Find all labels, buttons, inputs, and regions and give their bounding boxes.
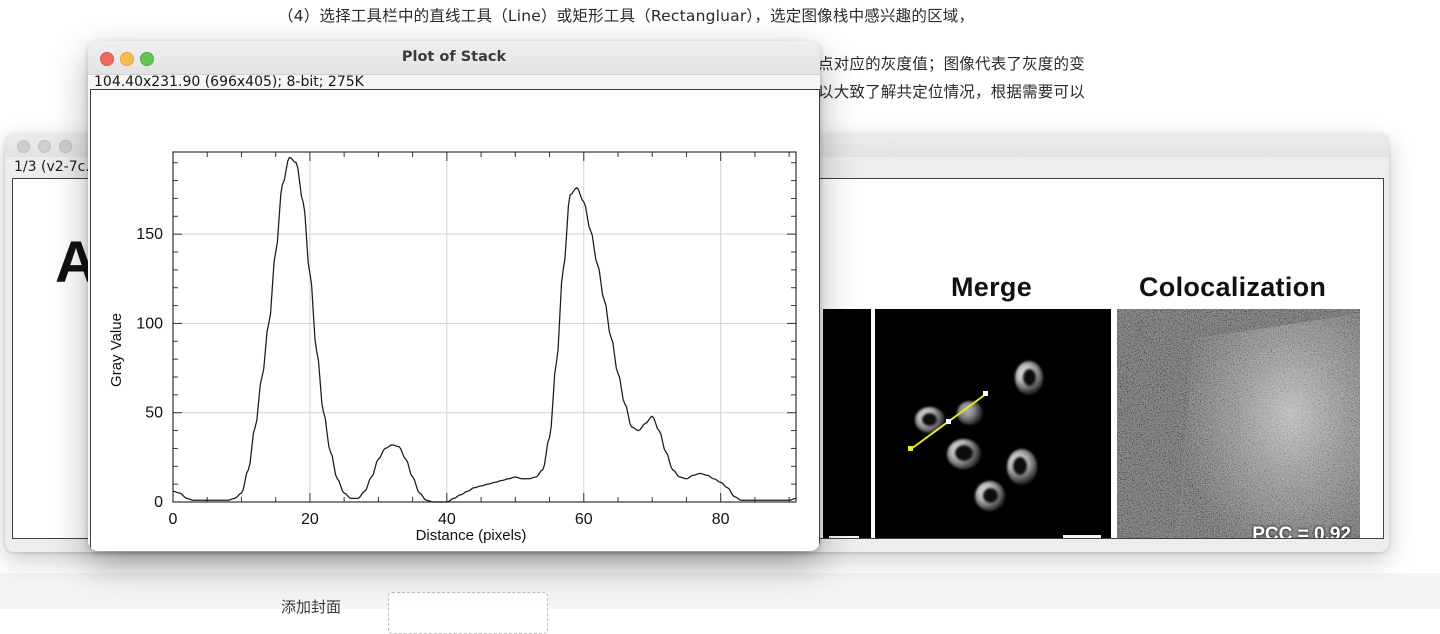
merge-panel-title: Merge [951,272,1032,303]
y-tick-label: 150 [136,226,163,243]
x-tick-label: 40 [438,511,456,528]
pcc-value-label: PCC = 0.92 [1252,524,1351,539]
x-tick-label: 0 [169,511,178,528]
plot-ticks [173,152,796,502]
x-axis-label: Distance (pixels) [416,527,527,544]
colocalization-scatter [1117,309,1360,539]
colocalization-panel-title: Colocalization [1139,272,1326,303]
micrograph-panel-partial: 20 μm [823,309,871,539]
micrograph-panel-merge[interactable]: 20 μm [875,309,1111,539]
add-cover-label: 添加封面 [281,596,341,617]
plot-canvas[interactable]: 020406080050100150 Distance (pixels) Gra… [90,89,820,551]
y-axis-label: Gray Value [108,313,125,387]
roi-line-overlay[interactable] [875,309,1111,539]
minimize-icon[interactable] [38,140,51,153]
micrograph-panel-colocalization[interactable]: PCC = 0.92 [1117,309,1360,539]
profile-data-line [173,157,796,502]
background-window-status-line: 1/3 (v2-7c... [14,159,99,175]
plot-window-titlebar[interactable]: Plot of Stack [88,41,820,75]
scale-bar [829,536,859,539]
close-icon[interactable] [17,140,30,153]
profile-plot-svg: 020406080050100150 Distance (pixels) Gra… [91,90,819,551]
y-tick-label: 50 [145,405,163,422]
cover-dropzone[interactable] [388,592,548,634]
document-paragraph-line-2: 点对应的灰度值；图像代表了灰度的变 [818,52,1085,74]
x-tick-label: 60 [575,511,593,528]
document-lower-area [0,573,1440,609]
plot-window-title: Plot of Stack [88,49,820,65]
plot-axes [173,152,796,502]
x-tick-label: 80 [712,511,730,528]
plot-gridlines [173,152,796,502]
document-paragraph-line-1: （4）选择工具栏中的直线工具（Line）或矩形工具（Rectangluar），选… [278,4,974,26]
maximize-icon[interactable] [59,140,72,153]
plot-of-stack-window[interactable]: Plot of Stack 104.40x231.90 (696x405); 8… [88,41,820,551]
y-tick-label: 0 [154,494,163,511]
scale-bar [1063,535,1101,539]
y-tick-label: 100 [136,315,163,332]
plot-tick-labels: 020406080050100150 [136,226,729,528]
document-paragraph-line-3: 以大致了解共定位情况，根据需要可以 [818,80,1085,102]
x-tick-label: 20 [301,511,319,528]
